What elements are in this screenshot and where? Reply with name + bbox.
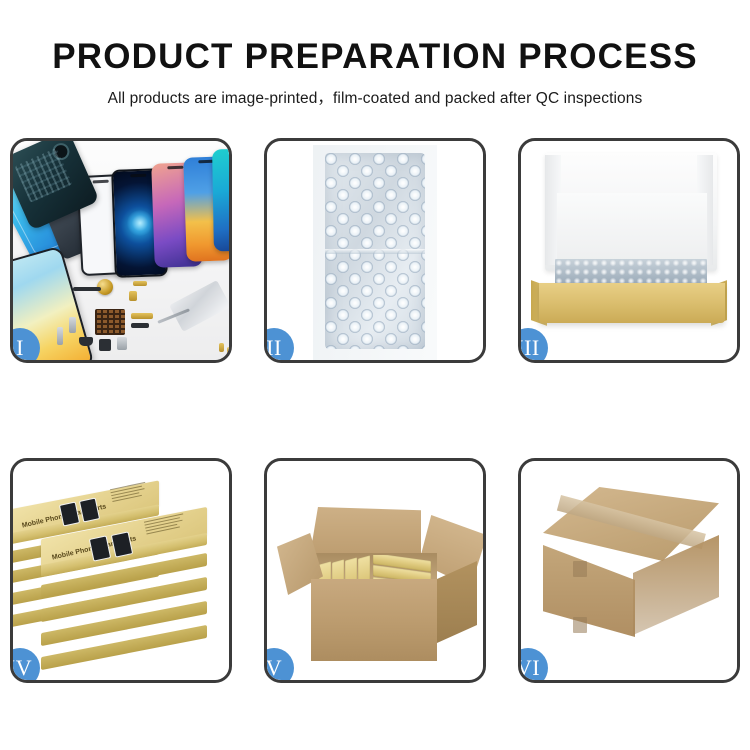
flex-cable-part bbox=[133, 281, 147, 286]
step-panel-1: I bbox=[10, 138, 232, 363]
sim-tray-part bbox=[117, 337, 127, 350]
notch bbox=[130, 174, 146, 178]
tweezers-tool bbox=[169, 280, 229, 332]
box-tray-kraft bbox=[539, 283, 725, 323]
step-4-photo: Mobile Phone Spare Parts Mobile Phone Sp… bbox=[13, 461, 229, 680]
carton-front bbox=[543, 545, 635, 637]
flex-cable-part bbox=[131, 313, 153, 319]
screw-part bbox=[219, 343, 224, 352]
step-1-photo bbox=[13, 141, 229, 360]
notch bbox=[93, 180, 109, 184]
metal-bracket-part bbox=[57, 327, 63, 345]
step-panel-4: Mobile Phone Spare Parts Mobile Phone Sp… bbox=[10, 458, 232, 683]
metal-bracket-part bbox=[69, 317, 76, 333]
flex-cable-part bbox=[131, 323, 149, 328]
flex-cable-part bbox=[129, 291, 137, 301]
page-subtitle: All products are image-printed，film-coat… bbox=[0, 78, 750, 109]
carton-front bbox=[311, 579, 437, 661]
header: PRODUCT PREPARATION PROCESS All products… bbox=[0, 0, 750, 109]
page-title: PRODUCT PREPARATION PROCESS bbox=[0, 0, 750, 78]
step-2-photo bbox=[267, 141, 483, 360]
step-panel-2: II bbox=[264, 138, 486, 363]
pouch-seam bbox=[325, 249, 425, 254]
foam-sheet bbox=[557, 193, 707, 261]
camera-module-part bbox=[99, 339, 111, 351]
process-steps-grid: I II bbox=[10, 138, 740, 683]
step-panel-5: V bbox=[264, 458, 486, 683]
carton-seam bbox=[573, 617, 587, 633]
step-3-photo bbox=[521, 141, 737, 360]
step-6-photo bbox=[521, 461, 737, 680]
connector-chip-part bbox=[95, 309, 125, 335]
step-panel-3: III bbox=[518, 138, 740, 363]
speaker-part bbox=[79, 337, 93, 346]
step-5-photo bbox=[267, 461, 483, 680]
carton-seam bbox=[573, 561, 587, 577]
product-preparation-process-page: PRODUCT PREPARATION PROCESS All products… bbox=[0, 0, 750, 750]
bubble-wrap-pouch bbox=[325, 153, 425, 349]
screw-part bbox=[227, 347, 229, 356]
notch bbox=[167, 166, 183, 170]
antenna-strip-part bbox=[73, 287, 101, 291]
phone-screen-teal bbox=[212, 149, 229, 252]
step-panel-6: VI bbox=[518, 458, 740, 683]
